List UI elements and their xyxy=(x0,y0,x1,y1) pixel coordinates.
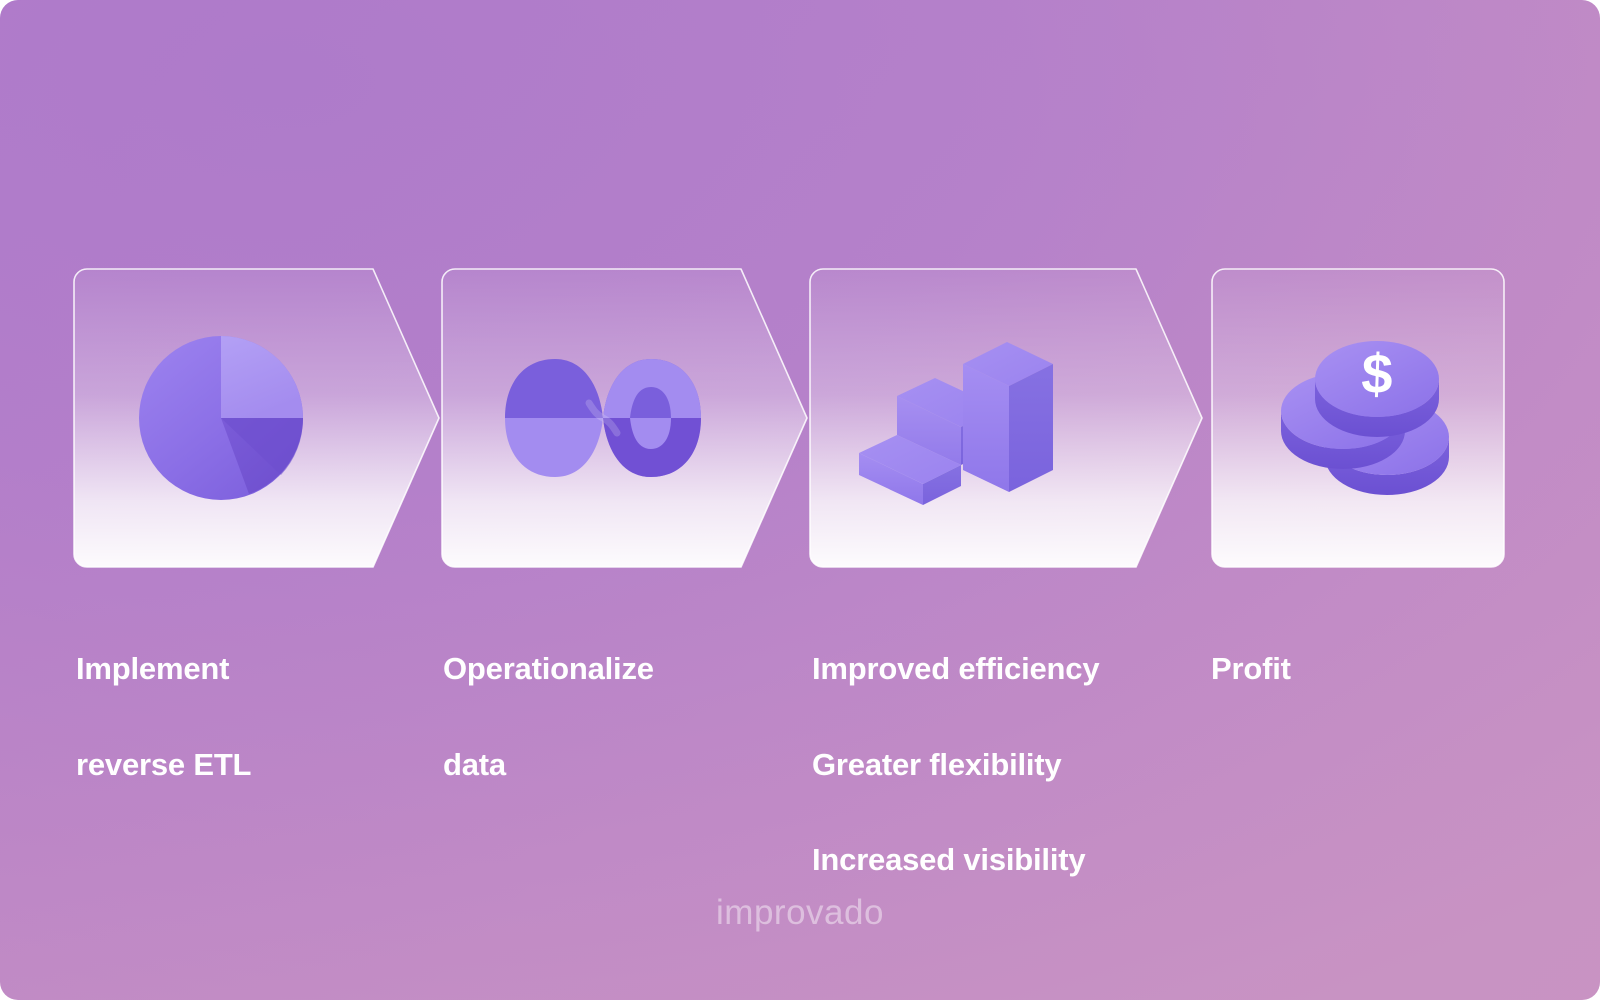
step-card-1-icon-wrap xyxy=(73,268,440,568)
step-card-4-icon-wrap: $ xyxy=(1211,268,1505,568)
step-caption-2: Operationalize data xyxy=(443,606,773,827)
pie-chart-icon xyxy=(131,328,311,508)
steps-stage: $ Implement reverse ETL Operationalize d… xyxy=(0,0,1600,1000)
step-caption-4-line-1: Profit xyxy=(1211,648,1501,690)
step-card-3[interactable] xyxy=(809,268,1203,568)
infinity-icon xyxy=(493,343,713,493)
improvado-logo: improvado xyxy=(0,893,1600,933)
dollar-sign-glyph: $ xyxy=(1360,342,1393,405)
coins-stack-icon: $ xyxy=(1269,331,1459,506)
step-caption-3-line-1: Improved efficiency xyxy=(812,648,1192,690)
step-card-1[interactable] xyxy=(73,268,440,568)
step-caption-1-line-1: Implement xyxy=(76,648,406,690)
step-caption-3-line-3: Increased visibility xyxy=(812,839,1192,881)
step-caption-4: Profit xyxy=(1211,606,1501,732)
step-caption-3-line-2: Greater flexibility xyxy=(812,744,1192,786)
step-caption-2-line-1: Operationalize xyxy=(443,648,773,690)
step-caption-1: Implement reverse ETL xyxy=(76,606,406,827)
step-caption-3: Improved efficiency Greater flexibility … xyxy=(812,606,1192,923)
step-caption-2-line-2: data xyxy=(443,744,773,786)
step-card-2-icon-wrap xyxy=(441,268,808,568)
infographic-canvas: $ Implement reverse ETL Operationalize d… xyxy=(0,0,1600,1000)
step-card-4[interactable]: $ xyxy=(1211,268,1505,568)
step-card-3-icon-wrap xyxy=(809,268,1203,568)
step-card-2[interactable] xyxy=(441,268,808,568)
step-caption-1-line-2: reverse ETL xyxy=(76,744,406,786)
bar-chart-3d-icon xyxy=(857,328,1087,508)
